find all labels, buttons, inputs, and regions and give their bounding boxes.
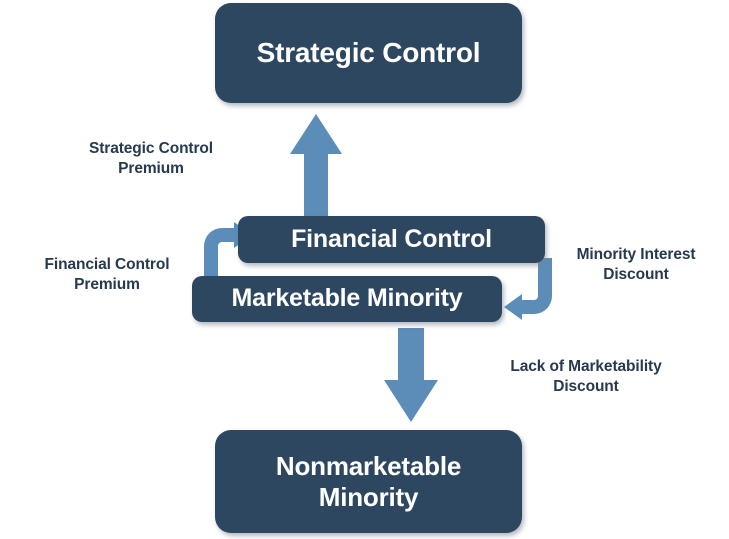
label-financial-control-premium: Financial Control Premium: [12, 255, 202, 296]
label-lack-of-marketability-discount: Lack of Marketability Discount: [462, 357, 710, 398]
node-marketable-minority[interactable]: Marketable Minority: [192, 276, 502, 322]
arrow-up-icon: [288, 112, 344, 218]
node-financial-control-label: Financial Control: [291, 225, 492, 255]
node-marketable-minority-label: Marketable Minority: [232, 284, 463, 314]
node-nonmarketable-minority[interactable]: Nonmarketable Minority: [215, 430, 522, 533]
levels-of-value-diagram: Strategic Control Financial Control Mark…: [0, 0, 729, 539]
node-financial-control[interactable]: Financial Control: [238, 216, 545, 263]
node-strategic-control[interactable]: Strategic Control: [215, 3, 522, 103]
node-nonmarketable-minority-label: Nonmarketable Minority: [276, 451, 461, 512]
node-strategic-control-label: Strategic Control: [257, 36, 481, 69]
label-strategic-control-premium: Strategic Control Premium: [50, 139, 252, 180]
arrow-down-icon: [382, 326, 440, 424]
label-minority-interest-discount: Minority Interest Discount: [548, 245, 724, 286]
